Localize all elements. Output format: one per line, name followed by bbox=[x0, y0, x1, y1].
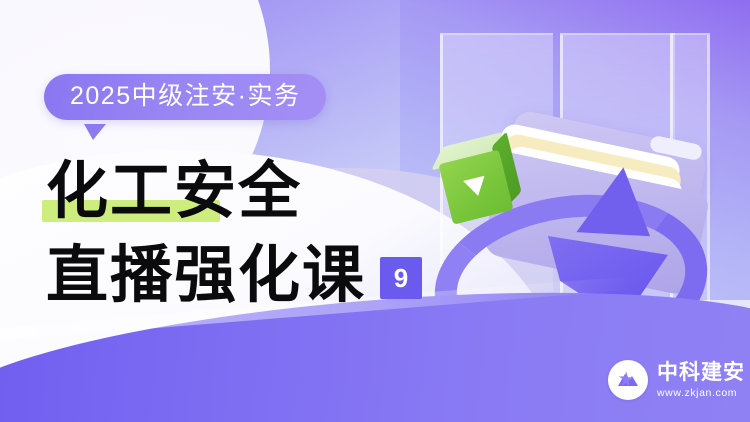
logo-glyph-svg bbox=[615, 367, 641, 393]
headline-row-1: 化工安全 bbox=[46, 152, 466, 234]
headline-line-2: 直播强化课 bbox=[46, 236, 366, 314]
course-promo-banner: 2025中级注安·实务 化工安全 直播强化课 9 中科建安 www.zkjan.… bbox=[0, 0, 750, 422]
episode-number-badge: 9 bbox=[380, 257, 422, 299]
brand-url: www.zkjan.com bbox=[657, 388, 745, 399]
mountain-arrow-emblem-icon bbox=[608, 360, 648, 400]
headline-row-2: 直播强化课 9 bbox=[46, 234, 466, 316]
course-badge-label: 2025中级注安·实务 bbox=[44, 74, 326, 120]
brand-logo[interactable]: 中科建安 www.zkjan.com bbox=[608, 360, 745, 400]
course-badge: 2025中级注安·实务 bbox=[44, 74, 326, 120]
brand-name: 中科建安 bbox=[657, 362, 745, 383]
headline-line-1: 化工安全 bbox=[46, 152, 466, 230]
headline-group: 化工安全 直播强化课 9 bbox=[46, 152, 466, 316]
logo-text-group: 中科建安 www.zkjan.com bbox=[657, 362, 745, 399]
badge-tail-icon bbox=[84, 124, 106, 140]
